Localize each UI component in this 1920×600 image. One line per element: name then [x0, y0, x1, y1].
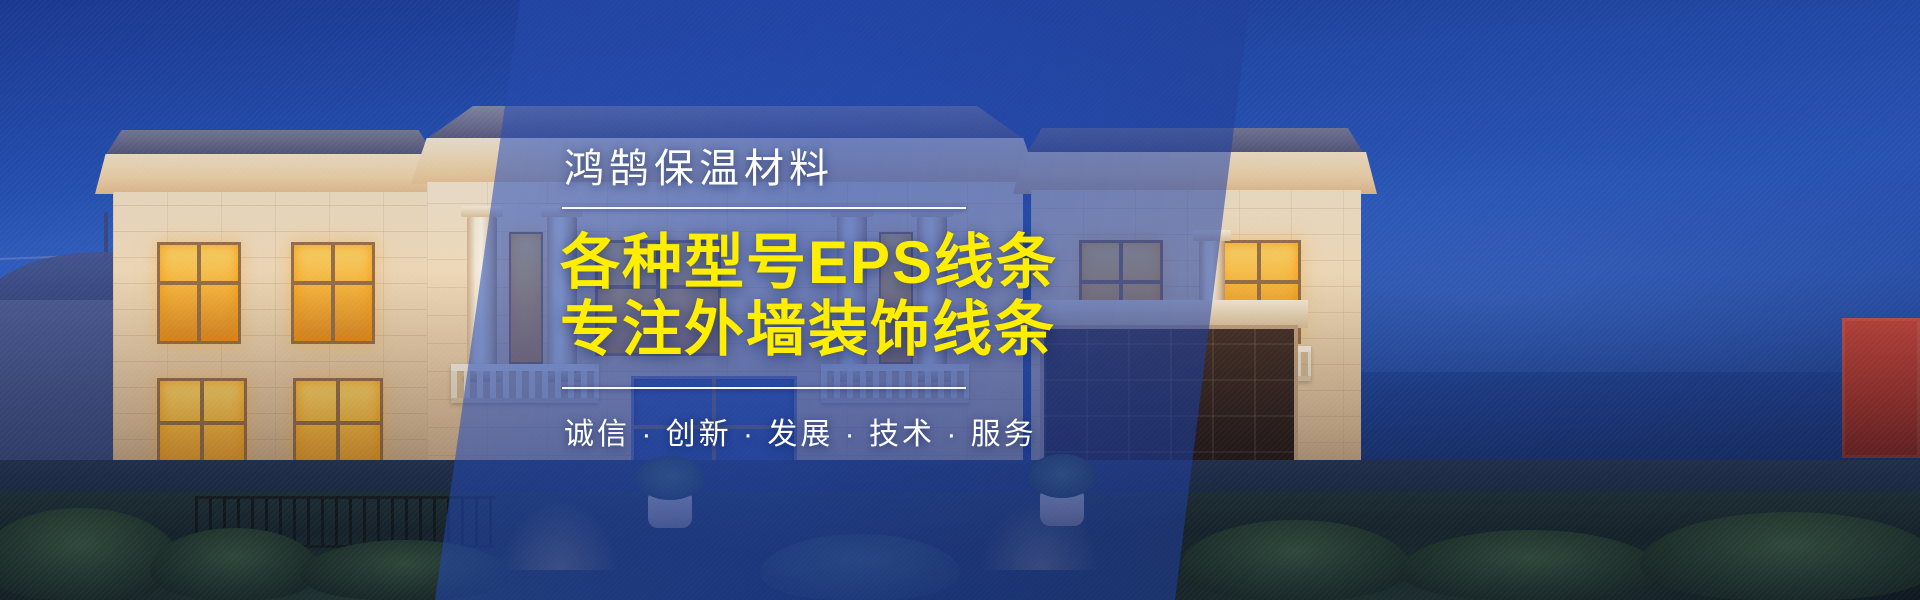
divider-top — [562, 207, 966, 209]
tagline: 诚信 · 创新 · 发展 · 技术 · 服务 — [564, 409, 1037, 453]
hero-banner: 鸿鹄保温材料 各种型号EPS线条 专注外墙装饰线条 诚信 · 创新 · 发展 ·… — [0, 0, 1920, 600]
brand-name: 鸿鹄保温材料 — [564, 147, 834, 191]
headline-line-2: 专注外墙装饰线条 — [560, 298, 1056, 363]
divider-bottom — [562, 387, 966, 389]
banner-text-block: 鸿鹄保温材料 各种型号EPS线条 专注外墙装饰线条 诚信 · 创新 · 发展 ·… — [560, 0, 1280, 600]
headline-line-1: 各种型号EPS线条 — [560, 231, 1058, 296]
